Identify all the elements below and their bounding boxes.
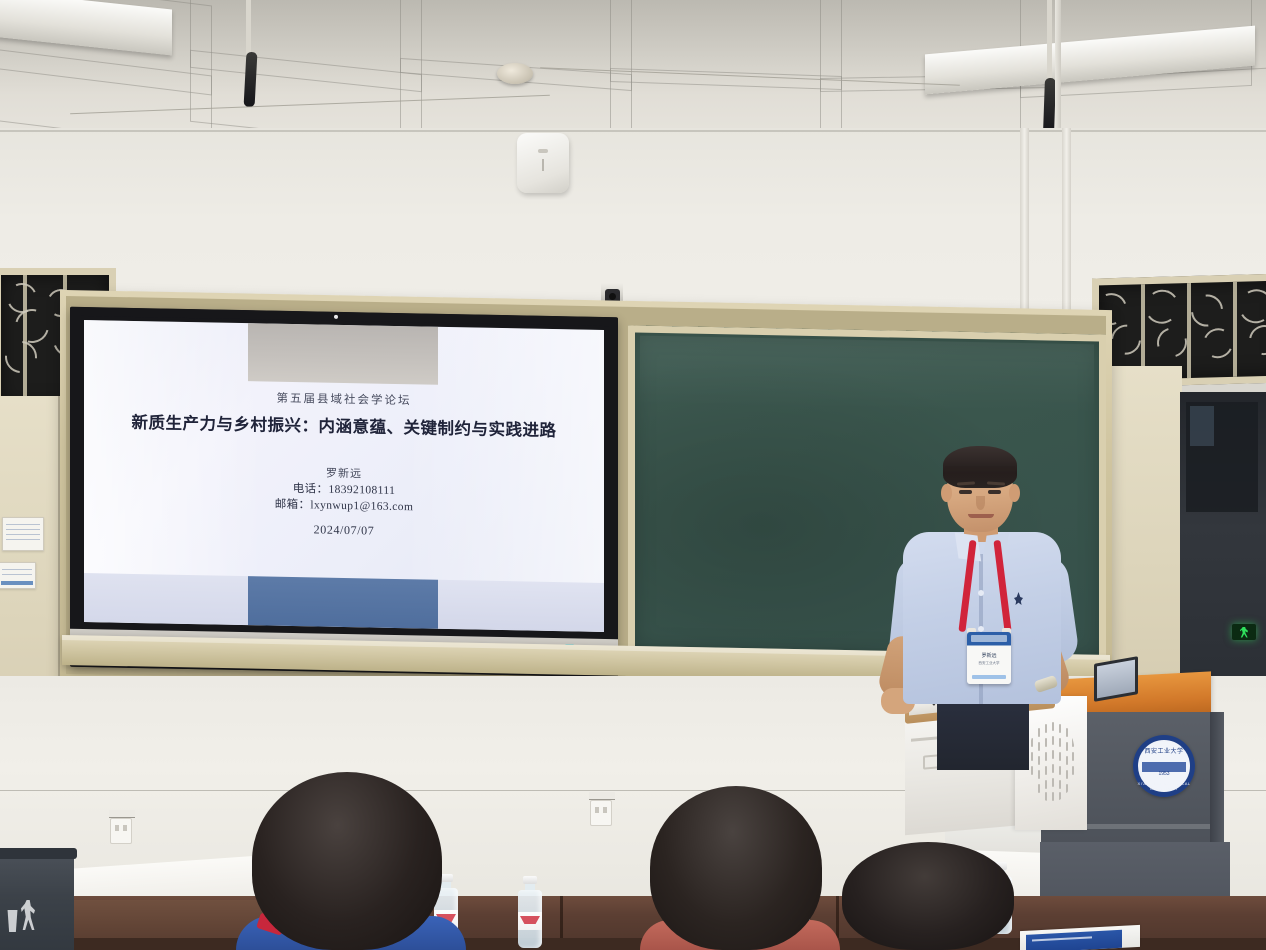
bottle-cap-icon (523, 876, 537, 884)
audience-member-2-head (650, 786, 822, 950)
posted-notice-2 (0, 562, 36, 589)
presentation-slide: 第五届县域社会学论坛 新质生产力与乡村振兴：内涵意蕴、关键制约与实践进路 罗新远… (84, 320, 604, 632)
smartboard-camera-dot (334, 315, 338, 319)
slide-header-image (248, 323, 438, 385)
exit-running-man-icon (1232, 624, 1256, 640)
smoke-detector-icon (497, 63, 533, 84)
badge-org: 西安工业大学 (967, 661, 1011, 666)
wall-seam-top (0, 130, 1266, 132)
audience-member-1-head (252, 772, 442, 950)
trash-bin-icon (0, 852, 74, 950)
university-logo-en: XI'AN TECHNOLOGICAL UNIVERSITY (1133, 781, 1195, 791)
wall-outlet-center[interactable] (590, 800, 612, 826)
smart-board-display[interactable]: 第五届县域社会学论坛 新质生产力与乡村振兴：内涵意蕴、关键制约与实践进路 罗新远… (70, 307, 618, 678)
presenter-eye-left (959, 490, 972, 494)
ceiling-pole (1055, 0, 1061, 140)
university-logo-year: 1953 (1133, 771, 1195, 777)
classroom-presentation-scene: 第五届县域社会学论坛 新质生产力与乡村振兴：内涵意蕴、关键制约与实践进路 罗新远… (0, 0, 1266, 950)
badge-name: 罗新远 (967, 652, 1011, 659)
projector-mount-rod-right (1047, 0, 1052, 90)
slide-footer-image (248, 576, 438, 629)
presenter-eye-right (988, 490, 1001, 494)
university-logo-cn: 西安工业大学 (1133, 746, 1195, 755)
audience-member-3-head (842, 842, 1014, 950)
podium-monitor[interactable] (1094, 656, 1138, 702)
doorway-right (1180, 392, 1266, 692)
presenter-person: 罗新远 西安工业大学 (875, 440, 1085, 770)
name-badge: 罗新远 西安工业大学 (967, 632, 1011, 684)
wifi-access-point-icon (517, 133, 569, 193)
university-logo-emblem: 西安工业大学 1953 XI'AN TECHNOLOGICAL UNIVERSI… (1133, 735, 1195, 797)
wall-outlet-left[interactable] (110, 818, 132, 844)
posted-notice-1 (2, 517, 44, 551)
